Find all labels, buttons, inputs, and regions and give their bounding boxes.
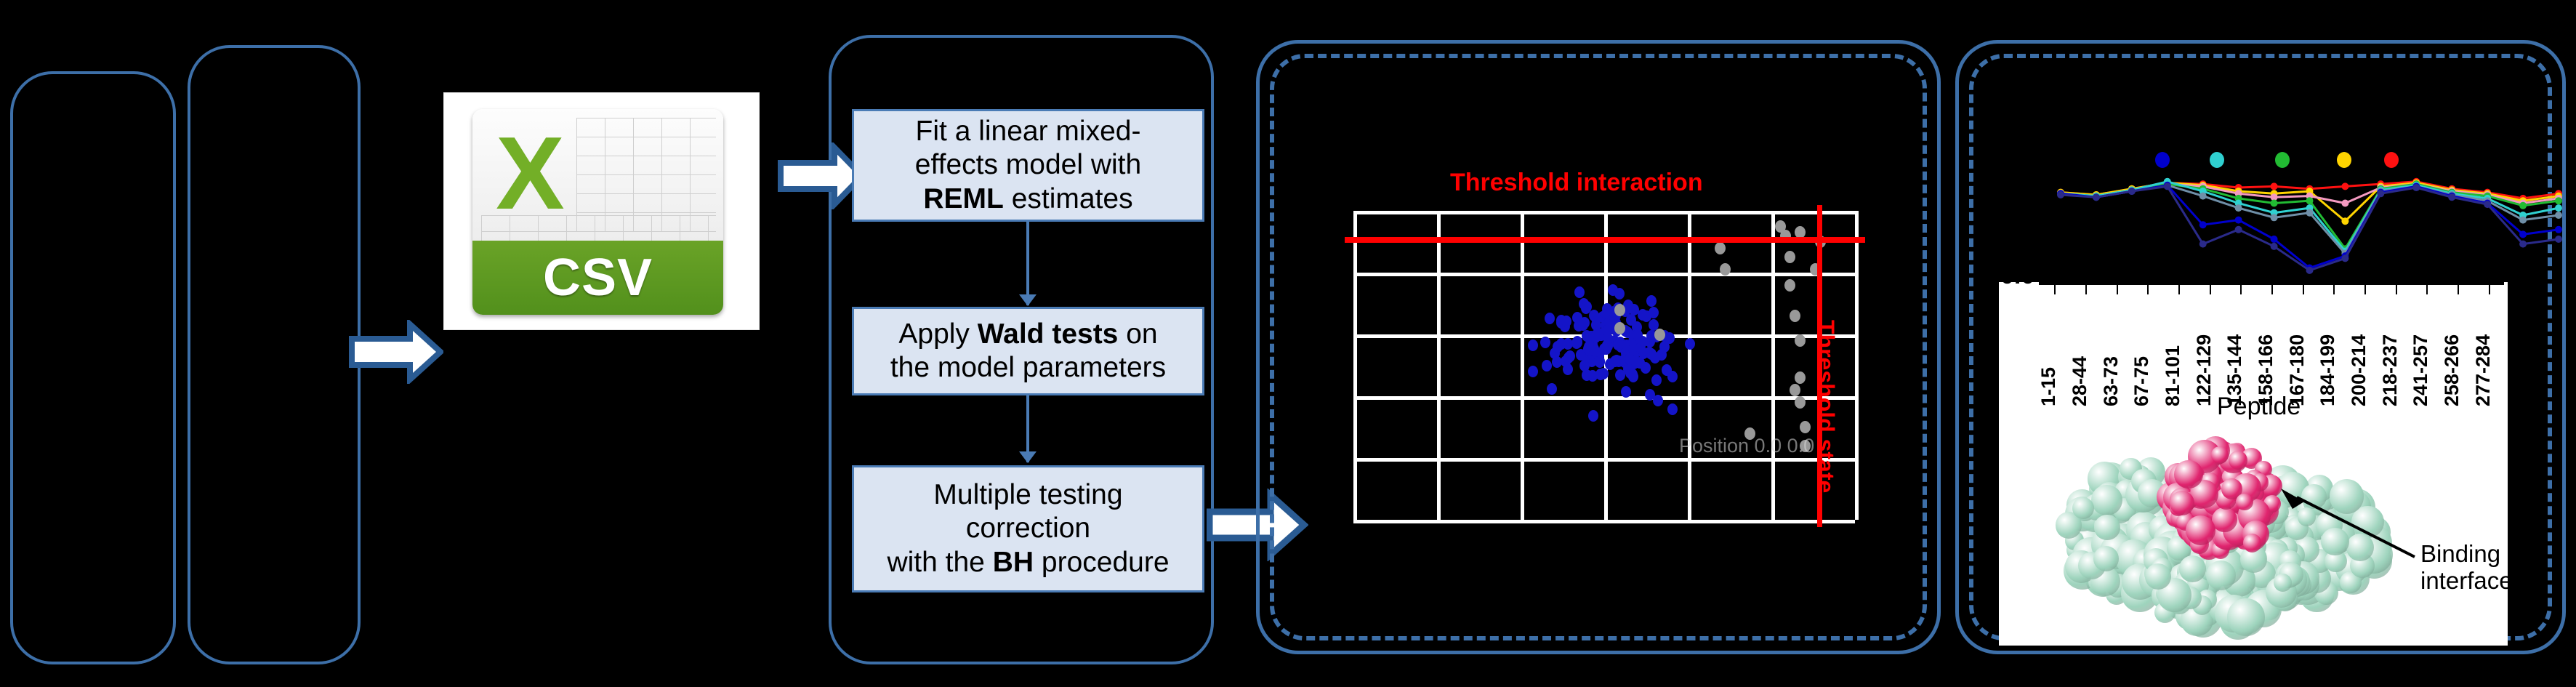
peptide-tick-label: 200-214 xyxy=(2348,334,2370,406)
protein-surface-blob xyxy=(2145,563,2171,590)
scatter-point xyxy=(1578,319,1588,331)
data-source-panel xyxy=(10,71,176,664)
peptide-marker xyxy=(2448,193,2455,201)
scatter-point-nonsignificant xyxy=(1614,322,1625,334)
peptide-marker xyxy=(2271,243,2278,250)
peptide-tick-label: 67-75 xyxy=(2130,356,2153,406)
peptide-tick xyxy=(2210,285,2211,294)
peptide-tick-label: 81-101 xyxy=(2162,345,2184,406)
peptide-marker xyxy=(2377,190,2384,197)
scatter-point xyxy=(1528,366,1538,377)
wald-tests-text: Apply Wald tests onthe model parameters xyxy=(883,318,1173,385)
scatter-point-nonsignificant xyxy=(1795,371,1806,384)
scatter-gridline-h xyxy=(1353,520,1855,523)
protein-surface-blob xyxy=(2206,561,2236,590)
scatter-point xyxy=(1561,316,1571,327)
connector-1-arrowhead xyxy=(1019,294,1037,306)
peptide-tick-label: 184-199 xyxy=(2317,334,2339,406)
scatter-point xyxy=(1646,295,1657,307)
peptide-tick xyxy=(2054,285,2056,294)
protein-surface-blob xyxy=(2179,555,2206,582)
peptide-marker xyxy=(2555,197,2562,204)
peptide-marker xyxy=(2555,204,2562,212)
scatter-point xyxy=(1633,329,1643,341)
peptide-marker xyxy=(2235,217,2242,224)
peptide-chart-legend xyxy=(2028,149,2566,171)
peptide-marker xyxy=(2271,200,2278,207)
scatter-point xyxy=(1610,355,1620,367)
scatter-point xyxy=(1645,389,1655,401)
legend-dot-series-green xyxy=(2275,152,2290,168)
peptide-marker xyxy=(2057,191,2064,198)
bh-correction-text: Multiple testingcorrectionwith the BH pr… xyxy=(880,478,1176,579)
peptide-tick-label: 277-284 xyxy=(2472,334,2495,406)
scatter-gridline-v xyxy=(1353,211,1357,520)
peptide-tick-label: 258-266 xyxy=(2441,334,2463,406)
protein-surface-blob xyxy=(2212,507,2237,533)
protein-surface-blob xyxy=(2174,460,2203,489)
scatter-point-nonsignificant xyxy=(1795,396,1806,409)
scatter-faint-axis-text: Position 0.0 0.0 xyxy=(1679,435,1814,457)
protein-surface-blob xyxy=(2211,446,2229,464)
peptide-marker xyxy=(2519,202,2527,209)
fit-model-text: Fit a linear mixed-effects model withREM… xyxy=(908,115,1148,215)
peptide-tick xyxy=(2458,285,2459,294)
scatter-point xyxy=(1528,340,1538,351)
peptide-tick-label: 1-15 xyxy=(2037,367,2060,406)
peptide-marker xyxy=(2164,182,2171,190)
peptide-tick xyxy=(2117,285,2118,294)
peptide-tick xyxy=(2489,285,2490,294)
peptide-marker xyxy=(2093,193,2100,201)
scatter-point xyxy=(1565,350,1575,362)
protein-surface-blob xyxy=(2227,598,2264,635)
scatter-gridline-v xyxy=(1437,211,1441,520)
bh-correction-box[interactable]: Multiple testingcorrectionwith the BH pr… xyxy=(852,465,1204,592)
peptide-tick xyxy=(2240,285,2242,294)
peptide-marker xyxy=(2341,200,2348,207)
protein-surface-blob xyxy=(2243,534,2262,553)
binding-interface-leader-line xyxy=(2275,484,2420,564)
peptide-tick xyxy=(2271,285,2273,294)
protein-surface-blob xyxy=(2274,574,2292,592)
legend-dot-series-cyan xyxy=(2210,152,2224,168)
peptide-marker xyxy=(2519,241,2527,248)
scatter-point xyxy=(1590,332,1601,343)
peptide-tick-labels: 1-1528-4463-7367-7581-101122-129135-1441… xyxy=(2039,298,2504,393)
peptide-marker xyxy=(2199,221,2207,228)
scatter-point xyxy=(1547,383,1557,395)
peptide-tick-label: 122-129 xyxy=(2193,334,2215,406)
peptide-tick xyxy=(2085,285,2087,294)
structure-white-card: 0.0 1-1528-4463-7367-7581-101122-129135-… xyxy=(1999,282,2508,646)
peptide-marker xyxy=(2271,214,2278,221)
scatter-gridline-v xyxy=(1855,211,1859,520)
protein-surface-blob xyxy=(2229,451,2247,470)
protein-surface-blob xyxy=(2170,491,2194,515)
peptide-marker xyxy=(2519,217,2527,224)
peptide-marker xyxy=(2341,217,2348,225)
peptide-profile-chart xyxy=(2028,167,2566,287)
csv-label: CSV xyxy=(543,248,653,308)
peptide-y-tick-label: 0.0 xyxy=(2000,282,2034,290)
scatter-point xyxy=(1572,337,1582,348)
connector-2 xyxy=(1026,395,1029,462)
scatter-point xyxy=(1588,410,1598,422)
scatter-point xyxy=(1540,337,1550,348)
scatter-point xyxy=(1608,284,1618,296)
scatter-point xyxy=(1552,356,1562,368)
scatter-point-nonsignificant xyxy=(1784,279,1795,292)
peptide-marker xyxy=(2306,267,2314,274)
scatter-plot-area xyxy=(1353,211,1855,520)
threshold-state-label: Threshold state xyxy=(1812,320,1839,493)
peptide-axis-title: Peptide xyxy=(2217,393,2301,421)
peptide-tick-label: 218-237 xyxy=(2379,334,2402,406)
interaction-state-scatter xyxy=(1353,211,1855,520)
peptide-tick xyxy=(2333,285,2335,294)
peptide-marker xyxy=(2128,188,2136,195)
csv-input-panel xyxy=(188,45,361,664)
peptide-tick xyxy=(2364,285,2366,294)
protein-surface-blob xyxy=(2186,515,2215,545)
peptide-tick xyxy=(2178,285,2180,294)
excel-x-glyph: X xyxy=(496,122,565,225)
peptide-marker xyxy=(2306,209,2314,217)
scatter-point xyxy=(1625,353,1635,365)
peptide-marker xyxy=(2412,184,2420,191)
scatter-point xyxy=(1667,403,1678,415)
wald-tests-box[interactable]: Apply Wald tests onthe model parameters xyxy=(852,307,1204,395)
threshold-interaction-label: Threshold interaction xyxy=(1450,169,1703,197)
peptide-x-ticks xyxy=(2039,285,2504,297)
scatter-point xyxy=(1638,309,1648,321)
fit-model-box[interactable]: Fit a linear mixed-effects model withREM… xyxy=(852,109,1204,222)
scatter-point xyxy=(1595,369,1606,380)
connector-1 xyxy=(1026,222,1029,305)
scatter-point-nonsignificant xyxy=(1800,421,1811,433)
protein-surface-blob xyxy=(2072,497,2094,519)
peptide-tick xyxy=(2147,285,2149,294)
scatter-point-nonsignificant xyxy=(1720,263,1731,276)
peptide-marker xyxy=(2271,182,2278,190)
peptide-marker xyxy=(2555,212,2562,219)
peptide-tick-label: 28-44 xyxy=(2069,356,2091,406)
scatter-point-nonsignificant xyxy=(1790,384,1800,396)
scatter-point xyxy=(1603,340,1613,352)
scatter-gridline-h xyxy=(1353,211,1855,214)
legend-dot-series-blue xyxy=(2155,152,2170,168)
binding-interface-label: Binding interface xyxy=(2420,541,2508,595)
scatter-gridline-h xyxy=(1353,396,1855,400)
scatter-point-nonsignificant xyxy=(1654,329,1665,341)
peptide-marker xyxy=(2484,201,2491,208)
scatter-point xyxy=(1574,286,1585,298)
peptide-marker xyxy=(2271,236,2278,243)
scatter-point-nonsignificant xyxy=(1795,334,1806,347)
legend-dot-series-red xyxy=(2384,152,2399,168)
peptide-marker xyxy=(2199,193,2207,200)
scatter-point xyxy=(1641,362,1651,374)
scatter-gridline-v xyxy=(1688,211,1691,520)
peptide-tick xyxy=(2426,285,2428,294)
scatter-point xyxy=(1595,355,1605,367)
peptide-series-svg xyxy=(2028,167,2566,287)
pipeline-figure: X CSV Fit a linear mixed-effects model w… xyxy=(0,0,2576,687)
protein-surface-blob xyxy=(2093,546,2119,571)
scatter-point xyxy=(1563,363,1573,375)
scatter-point xyxy=(1685,338,1695,350)
legend-dot-series-yellow xyxy=(2337,152,2351,168)
threshold-interaction-line xyxy=(1345,237,1865,243)
csv-file-icon: X CSV xyxy=(472,109,723,315)
peptide-marker xyxy=(2555,236,2562,243)
scatter-point xyxy=(1665,332,1675,344)
csv-label-band: CSV xyxy=(472,241,723,315)
scatter-point-nonsignificant xyxy=(1715,242,1726,254)
scatter-point-nonsignificant xyxy=(1614,304,1625,316)
protein-surface-blob xyxy=(2091,485,2122,516)
peptide-marker xyxy=(2555,226,2562,233)
peptide-tick-label: 241-257 xyxy=(2410,334,2432,406)
scatter-point xyxy=(1626,314,1636,326)
peptide-marker xyxy=(2519,230,2527,238)
peptide-tick xyxy=(2396,285,2397,294)
scatter-gridline-v xyxy=(1521,211,1524,520)
scatter-point-nonsignificant xyxy=(1790,310,1800,322)
scatter-point xyxy=(1542,360,1552,371)
peptide-marker xyxy=(2341,182,2348,190)
peptide-marker xyxy=(2199,241,2207,248)
scatter-point xyxy=(1545,313,1555,324)
scatter-point xyxy=(1623,363,1633,375)
scatter-gridline-v xyxy=(1771,211,1775,520)
scatter-gridline-h xyxy=(1353,458,1855,462)
peptide-marker xyxy=(2306,197,2314,204)
peptide-tick xyxy=(2303,285,2304,294)
scatter-point xyxy=(1651,374,1662,386)
peptide-marker xyxy=(2235,226,2242,233)
peptide-marker xyxy=(2341,254,2348,262)
peptide-marker xyxy=(2235,204,2242,212)
scatter-point xyxy=(1635,342,1646,354)
scatter-point xyxy=(1563,338,1573,350)
scatter-point xyxy=(1603,325,1613,337)
peptide-tick-label: 63-73 xyxy=(2100,356,2122,406)
connector-2-arrowhead xyxy=(1019,451,1037,463)
scatter-point-nonsignificant xyxy=(1784,251,1795,263)
scatter-gridline-h xyxy=(1353,273,1855,276)
arrow-to-csv xyxy=(349,320,443,384)
scatter-point xyxy=(1621,386,1631,398)
